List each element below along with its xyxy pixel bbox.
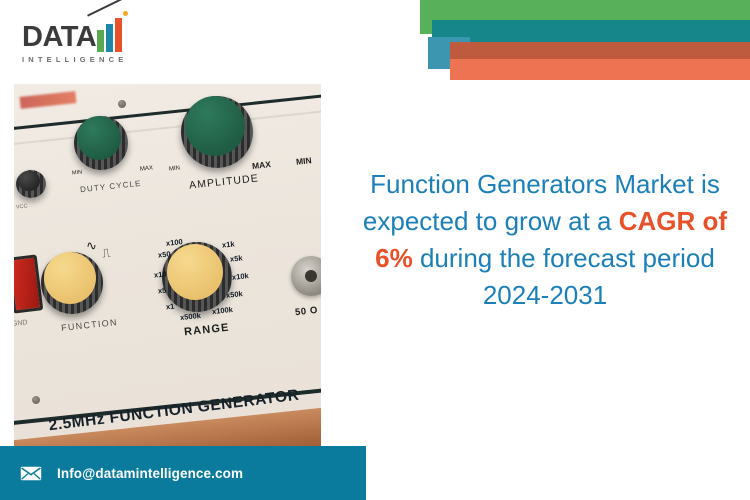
waveform-sine-icon: ∿ [85, 237, 98, 254]
range-step-x50k: x50k [226, 289, 244, 300]
footer-bar: Info@datamintelligence.com [0, 446, 366, 500]
knob-function [41, 252, 103, 314]
waveform-square-icon: ⎍ [101, 246, 111, 262]
product-photo: MIN MAX DUTY CYCLE MIN MAX MIN AMPLITUDE… [14, 84, 321, 455]
label-min-right: MIN [296, 155, 313, 167]
logo-wordmark-row: DATA [22, 16, 162, 52]
range-step-x1: x1 [166, 302, 175, 312]
decorative-bars [420, 0, 750, 90]
envelope-icon [20, 466, 42, 481]
range-step-x10k: x10k [232, 271, 250, 282]
page-title: Function Generators Market is expected t… [352, 166, 738, 314]
knob-cap [167, 244, 223, 300]
range-step-x1k: x1k [222, 239, 235, 249]
knob-amplitude [181, 96, 253, 168]
label-vcc: VCC [16, 203, 28, 210]
label-min-duty: MIN [72, 169, 83, 176]
logo-chart-icon [97, 18, 124, 52]
label-max-amplitude: MAX [252, 159, 272, 171]
knob-small-trim [16, 170, 46, 198]
logo-subtitle: INTELLIGENCE [22, 55, 162, 64]
knob-cap [185, 96, 245, 156]
knob-cap [18, 171, 40, 191]
logo-wordmark: DATA [22, 22, 96, 52]
panel-screw [118, 100, 126, 108]
range-step-x50: x50 [158, 249, 171, 259]
label-min-amplitude: MIN [169, 165, 181, 172]
headline-part2: during the forecast period 2024-2031 [413, 243, 715, 310]
brand-logo[interactable]: DATA INTELLIGENCE [22, 16, 162, 68]
knob-cap [44, 252, 96, 304]
range-step-x100: x100 [166, 237, 184, 248]
range-step-x5k: x5k [230, 253, 243, 263]
logo-bar-green [97, 30, 104, 52]
range-step-x5: x5 [158, 286, 167, 296]
range-step-x10: x10 [154, 269, 167, 279]
logo-bar-orange [115, 18, 122, 52]
contact-email[interactable]: Info@datamintelligence.com [57, 466, 243, 481]
panel-screw [32, 396, 40, 404]
knob-duty-cycle [74, 116, 128, 170]
logo-bar-blue [106, 24, 113, 52]
logo-dot-icon [123, 11, 128, 16]
deco-bar-orange-light [450, 59, 750, 80]
knob-cap [77, 116, 121, 160]
